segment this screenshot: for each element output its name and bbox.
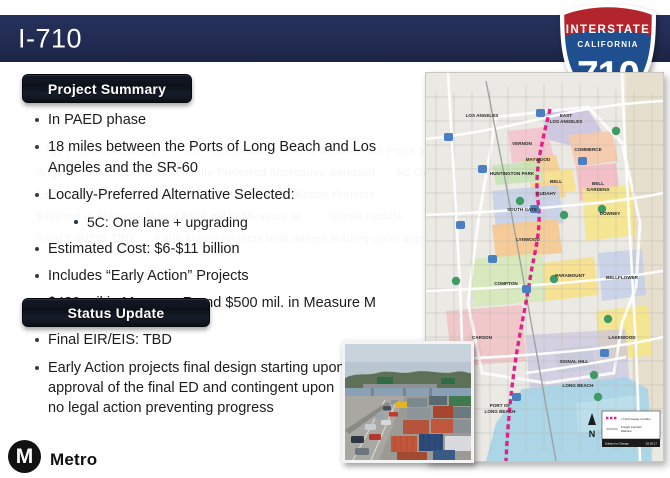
banner-status-update: Status Update [22, 298, 210, 327]
project-summary-bullet-list: In PAED phase 18 miles between the Ports… [33, 110, 418, 320]
page-title: I-710 [18, 23, 82, 54]
svg-text:BELL: BELL [592, 181, 604, 186]
svg-text:LAKEWOOD: LAKEWOOD [608, 335, 636, 340]
svg-text:SOUTH GATE: SOUTH GATE [507, 207, 537, 212]
metro-m-icon: M [8, 440, 41, 473]
map-compass-label: N [589, 429, 596, 439]
bullet-item: Includes “Early Action” Projects [33, 266, 418, 287]
bullet-item: Estimated Cost: $6-$11 billion [33, 239, 418, 260]
bullet-item: Locally-Preferred Alternative Selected: [33, 185, 418, 206]
bullet-item: Early Action projects final design start… [33, 358, 353, 418]
map-legend-footer-right: 02.09.17 [646, 442, 658, 446]
bullet-item-sub: 5C: One lane + upgrading [72, 212, 418, 233]
svg-text:GARDENS: GARDENS [587, 187, 610, 192]
svg-text:LONG BEACH: LONG BEACH [563, 383, 595, 388]
svg-text:CUDAHY: CUDAHY [536, 191, 556, 196]
svg-text:DOWNEY: DOWNEY [600, 211, 621, 216]
svg-text:COMMERCE: COMMERCE [574, 147, 601, 152]
map-legend-label-corridor: I-710 Freeway Corridor [621, 417, 651, 421]
svg-text:LOS ANGELES: LOS ANGELES [550, 119, 583, 124]
svg-text:PARAMOUNT: PARAMOUNT [555, 273, 585, 278]
svg-text:LYNWOOD: LYNWOOD [516, 237, 540, 242]
shield-state-label: CALIFORNIA [577, 40, 638, 49]
bullet-item: 18 miles between the Ports of Long Beach… [33, 137, 418, 179]
banner-status-update-label: Status Update [68, 305, 165, 321]
bullet-item: Final EIR/EIS: TBD [33, 330, 353, 350]
svg-text:BELL: BELL [550, 179, 562, 184]
banner-project-summary-label: Project Summary [48, 81, 166, 97]
slide-canvas: I-710 Project Summary In PAED phase 18 m… [0, 0, 670, 478]
svg-text:PORT OF: PORT OF [490, 403, 511, 408]
svg-text:VERNON: VERNON [512, 141, 532, 146]
svg-text:COMPTON: COMPTON [494, 281, 518, 286]
svg-text:Mainline: Mainline [621, 429, 632, 433]
shield-interstate-label: INTERSTATE [566, 24, 651, 36]
svg-text:SIGNAL HILL: SIGNAL HILL [560, 359, 589, 364]
map-legend-footer-left: Subject to Change [605, 442, 629, 446]
svg-text:EAST: EAST [560, 113, 572, 118]
photo-graphic [345, 344, 471, 460]
svg-text:BELLFLOWER: BELLFLOWER [606, 275, 639, 280]
bullet-item: In PAED phase [33, 110, 418, 131]
banner-project-summary: Project Summary [22, 74, 192, 103]
svg-text:HUNTINGTON PARK: HUNTINGTON PARK [490, 171, 535, 176]
freeway-truck-traffic-photo [342, 341, 474, 463]
svg-text:LONG BEACH: LONG BEACH [485, 409, 517, 414]
status-update-bullet-list: Final EIR/EIS: TBD Early Action projects… [33, 330, 353, 426]
svg-text:CARSON: CARSON [472, 335, 493, 340]
svg-text:LOS ANGELES: LOS ANGELES [466, 113, 499, 118]
metro-logo: M Metro [8, 440, 97, 473]
metro-wordmark: Metro [50, 450, 97, 470]
svg-text:MAYWOOD: MAYWOOD [526, 157, 551, 162]
map-legend: I-710 Freeway Corridor Freight Corridor/… [602, 411, 660, 447]
